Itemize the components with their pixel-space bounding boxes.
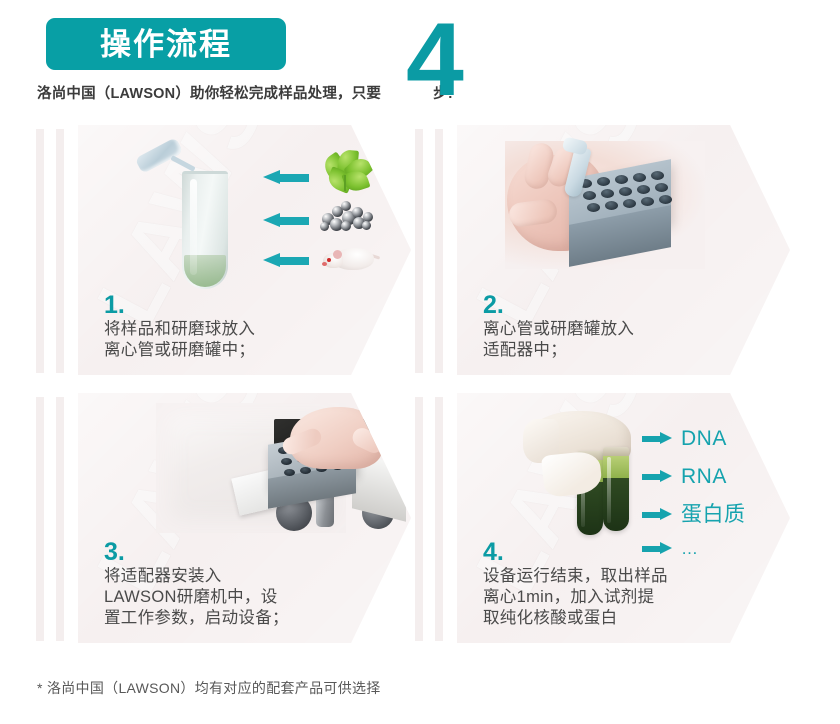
step-number: 3. bbox=[104, 540, 364, 565]
tube-hinge bbox=[170, 155, 195, 172]
mouse-sample-icon bbox=[322, 243, 378, 273]
step-card-2: LAWSON bbox=[415, 125, 790, 375]
right-arrow-icon bbox=[642, 508, 672, 521]
step-card-3: LAWSON bbox=[36, 393, 411, 643]
output-row-dna: DNA bbox=[642, 428, 727, 449]
accent-stripe bbox=[415, 397, 423, 641]
step-panel-body: LAWSON bbox=[78, 125, 411, 375]
step-description: 将适配器安装入 LAWSON研磨机中，设 置工作参数，启动设备； bbox=[104, 566, 364, 629]
left-arrow-icon bbox=[263, 253, 309, 268]
vials-photo bbox=[527, 407, 655, 539]
output-row-rna: RNA bbox=[642, 466, 727, 487]
left-arrow-icon bbox=[263, 213, 309, 228]
step-caption: 3. 将适配器安装入 LAWSON研磨机中，设 置工作参数，启动设备； bbox=[104, 540, 364, 629]
right-arrow-icon bbox=[642, 432, 672, 445]
grinding-beads-icon bbox=[320, 201, 376, 231]
accent-stripe bbox=[36, 397, 44, 641]
accent-stripe bbox=[435, 397, 443, 641]
output-label: RNA bbox=[681, 466, 727, 487]
tube-cap bbox=[135, 137, 184, 174]
plant-sample-icon bbox=[324, 153, 370, 193]
tube-gloss bbox=[190, 179, 197, 275]
page-title: 操作流程 bbox=[100, 29, 232, 60]
step-number: 2. bbox=[483, 293, 743, 318]
title-badge: 操作流程 bbox=[46, 18, 286, 70]
step-panel-body: LAWSON bbox=[457, 393, 790, 643]
step-description: 将样品和研磨球放入 离心管或研磨罐中； bbox=[104, 319, 364, 361]
output-row-protein: 蛋白质 bbox=[642, 504, 746, 525]
step-card-1: LAWSON bbox=[36, 125, 411, 375]
accent-stripe bbox=[56, 397, 64, 641]
steps-grid: LAWSON bbox=[0, 125, 840, 660]
accent-stripe bbox=[56, 129, 64, 373]
step-number: 4. bbox=[483, 540, 743, 565]
step-description: 设备运行结束，取出样品 离心1min，加入试剂提 取纯化核酸或蛋白 bbox=[483, 566, 743, 629]
accent-stripe bbox=[415, 129, 423, 373]
step-caption: 1. 将样品和研磨球放入 离心管或研磨罐中； bbox=[104, 293, 364, 361]
output-label: 蛋白质 bbox=[681, 504, 746, 525]
adapter-photo bbox=[505, 141, 705, 269]
big-step-count: 4 bbox=[406, 8, 461, 112]
left-arrow-icon bbox=[263, 170, 309, 185]
grinder-photo bbox=[156, 403, 346, 533]
subtitle-text-before: 洛尚中国（LAWSON）助你轻松完成样品处理，只要 bbox=[37, 86, 381, 102]
subtitle: 洛尚中国（LAWSON）助你轻松完成样品处理，只要步: bbox=[37, 82, 453, 103]
header: 操作流程 洛尚中国（LAWSON）助你轻松完成样品处理，只要步: 4 bbox=[0, 0, 840, 125]
accent-stripe bbox=[36, 129, 44, 373]
infographic-page: 操作流程 洛尚中国（LAWSON）助你轻松完成样品处理，只要步: 4 LAWSO… bbox=[0, 0, 840, 724]
footer-note: * 洛尚中国（LAWSON）均有对应的配套产品可供选择 bbox=[37, 678, 381, 698]
step-caption: 2. 离心管或研磨罐放入 适配器中； bbox=[483, 293, 743, 361]
step-card-4: LAWSON bbox=[415, 393, 790, 643]
step-number: 1. bbox=[104, 293, 364, 318]
step-panel-body: LAWSON bbox=[78, 393, 411, 643]
sample-vial bbox=[603, 447, 629, 531]
step-caption: 4. 设备运行结束，取出样品 离心1min，加入试剂提 取纯化核酸或蛋白 bbox=[483, 540, 743, 629]
right-arrow-icon bbox=[642, 470, 672, 483]
step-panel-body: LAWSON bbox=[457, 125, 790, 375]
accent-stripe bbox=[435, 129, 443, 373]
step-description: 离心管或研磨罐放入 适配器中； bbox=[483, 319, 743, 361]
output-label: DNA bbox=[681, 428, 727, 449]
